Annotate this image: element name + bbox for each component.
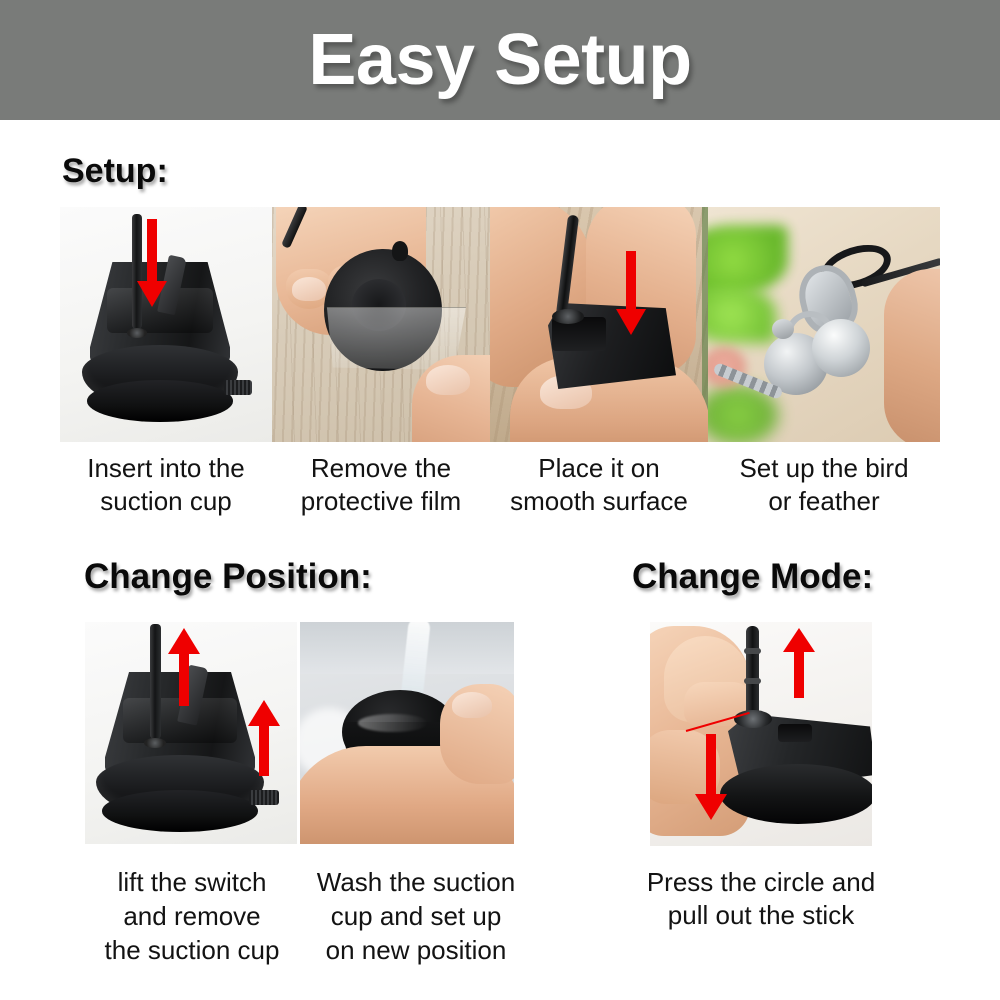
red-down-arrow-icon bbox=[696, 734, 726, 820]
caption-step-6: Wash the suction cup and set up on new p… bbox=[302, 866, 530, 967]
photo-remove-protective-film bbox=[272, 207, 490, 442]
easy-setup-instruction-graphic: Easy Setup Setup: bbox=[0, 0, 1000, 1000]
photo-setup-bird-or-feather bbox=[708, 207, 940, 442]
photo-lift-switch-remove-cup bbox=[85, 622, 297, 844]
photo-place-on-smooth-surface bbox=[490, 207, 708, 442]
section-heading-setup: Setup: bbox=[62, 152, 168, 191]
red-up-arrow-icon bbox=[169, 628, 199, 706]
red-up-arrow-icon bbox=[784, 628, 814, 698]
photo-insert-into-suction-cup bbox=[60, 207, 272, 442]
red-down-arrow-icon bbox=[137, 219, 167, 307]
photo-press-circle-pull-stick bbox=[650, 622, 872, 846]
red-down-arrow-icon bbox=[616, 251, 646, 335]
caption-step-4: Set up the bird or feather bbox=[708, 452, 940, 519]
page-title: Easy Setup bbox=[308, 24, 691, 96]
caption-step-3: Place it on smooth surface bbox=[490, 452, 708, 519]
section-heading-change-position: Change Position: bbox=[84, 557, 372, 597]
caption-step-5: lift the switch and remove the suction c… bbox=[80, 866, 304, 967]
release-ring-icon bbox=[734, 710, 772, 728]
caption-step-2: Remove the protective film bbox=[272, 452, 490, 519]
header-banner: Easy Setup bbox=[0, 0, 1000, 120]
red-up-arrow-icon-secondary bbox=[249, 700, 279, 776]
section-heading-change-mode: Change Mode: bbox=[632, 557, 873, 597]
caption-step-7: Press the circle and pull out the stick bbox=[600, 866, 922, 933]
caption-step-1: Insert into the suction cup bbox=[60, 452, 272, 519]
photo-wash-suction-cup bbox=[300, 622, 514, 844]
